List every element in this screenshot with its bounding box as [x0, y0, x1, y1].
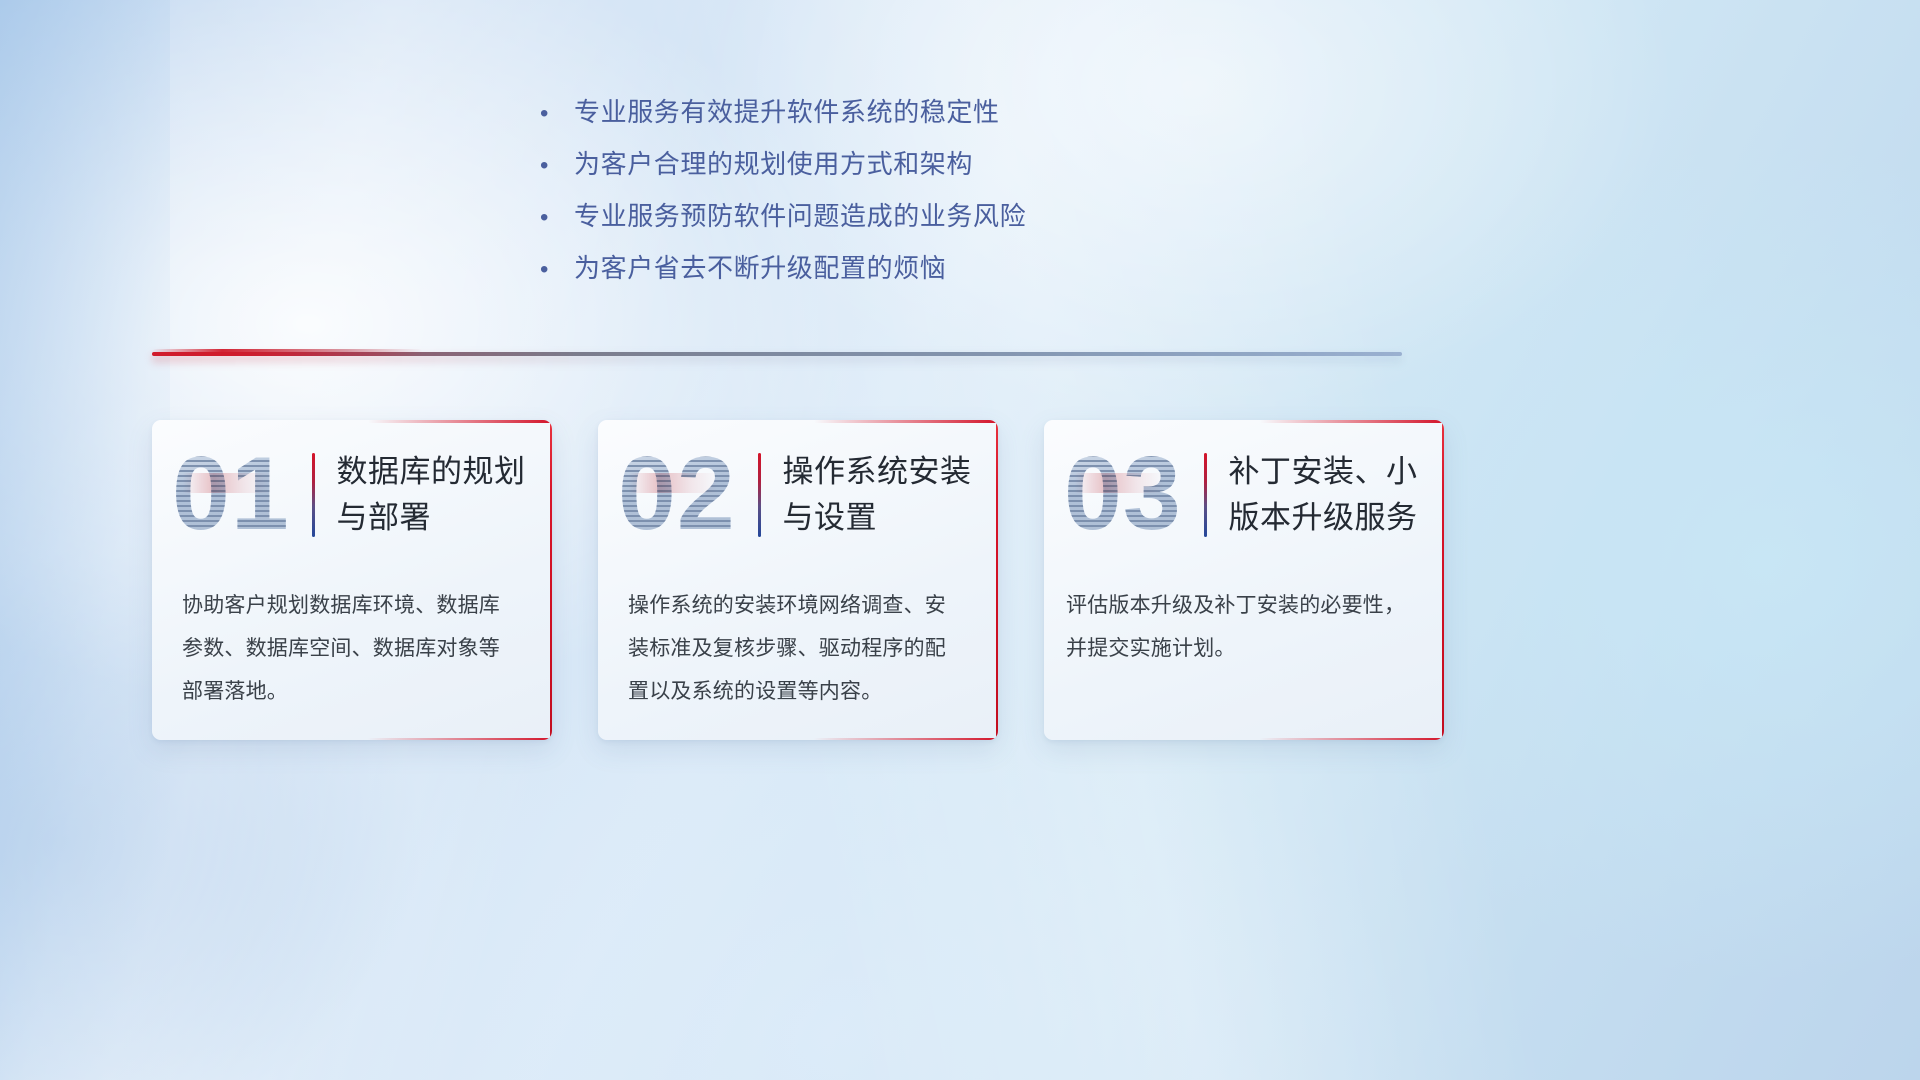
- bullet-point-icon: •: [540, 102, 574, 126]
- card-bottom-accent: [1260, 738, 1444, 741]
- card-title: 补丁安装、小 版本升级服务: [1229, 449, 1418, 541]
- list-item: • 专业服务预防软件问题造成的业务风险: [540, 196, 1160, 248]
- card-title-line-1: 数据库的规划: [337, 449, 526, 495]
- service-card-03[interactable]: 03 补丁安装、小 版本升级服务 评估版本升级及补丁安装的必要性，并提交实施计划…: [1044, 420, 1444, 740]
- card-title: 数据库的规划 与部署: [337, 449, 526, 541]
- card-title-line-2: 版本升级服务: [1229, 495, 1418, 541]
- card-body-text: 操作系统的安装环境网络调查、安装标准及复核步骤、驱动程序的配置以及系统的设置等内…: [598, 570, 998, 713]
- card-title-divider-bar: [312, 453, 315, 537]
- bullet-text: 为客户省去不断升级配置的烦恼: [574, 248, 946, 285]
- slide-canvas: • 专业服务有效提升软件系统的稳定性 • 为客户合理的规划使用方式和架构 • 专…: [0, 0, 1920, 1080]
- list-item: • 为客户省去不断升级配置的烦恼: [540, 248, 1160, 300]
- section-divider: [152, 345, 1402, 365]
- list-item: • 为客户合理的规划使用方式和架构: [540, 144, 1160, 196]
- card-number-watermark: 02: [618, 435, 752, 555]
- service-card-01[interactable]: 01 数据库的规划 与部署 协助客户规划数据库环境、数据库参数、数据库空间、数据…: [152, 420, 552, 740]
- bullet-point-icon: •: [540, 258, 574, 282]
- card-body-text: 协助客户规划数据库环境、数据库参数、数据库空间、数据库对象等部署落地。: [152, 570, 552, 713]
- card-title-line-1: 操作系统安装: [783, 449, 972, 495]
- card-bottom-accent: [368, 738, 552, 741]
- card-bottom-accent: [814, 738, 998, 741]
- divider-red-taper: [152, 349, 422, 356]
- bullet-point-icon: •: [540, 154, 574, 178]
- card-title-divider-bar: [1204, 453, 1207, 537]
- card-body-text: 评估版本升级及补丁安装的必要性，并提交实施计划。: [1044, 570, 1444, 670]
- bullet-point-icon: •: [540, 206, 574, 230]
- card-number-watermark: 01: [172, 435, 306, 555]
- card-title: 操作系统安装 与设置: [783, 449, 972, 541]
- service-card-02[interactable]: 02 操作系统安装 与设置 操作系统的安装环境网络调查、安装标准及复核步骤、驱动…: [598, 420, 998, 740]
- card-header: 02 操作系统安装 与设置: [598, 420, 998, 570]
- bullet-text: 专业服务预防软件问题造成的业务风险: [574, 196, 1026, 233]
- card-title-divider-bar: [758, 453, 761, 537]
- card-header: 01 数据库的规划 与部署: [152, 420, 552, 570]
- list-item: • 专业服务有效提升软件系统的稳定性: [540, 92, 1160, 144]
- card-number-watermark: 03: [1064, 435, 1198, 555]
- card-title-line-2: 与部署: [337, 495, 526, 541]
- benefits-bullet-list: • 专业服务有效提升软件系统的稳定性 • 为客户合理的规划使用方式和架构 • 专…: [540, 92, 1160, 300]
- card-title-line-2: 与设置: [783, 495, 972, 541]
- card-header: 03 补丁安装、小 版本升级服务: [1044, 420, 1444, 570]
- card-title-line-1: 补丁安装、小: [1229, 449, 1418, 495]
- bullet-text: 专业服务有效提升软件系统的稳定性: [574, 92, 1000, 129]
- bullet-text: 为客户合理的规划使用方式和架构: [574, 144, 973, 181]
